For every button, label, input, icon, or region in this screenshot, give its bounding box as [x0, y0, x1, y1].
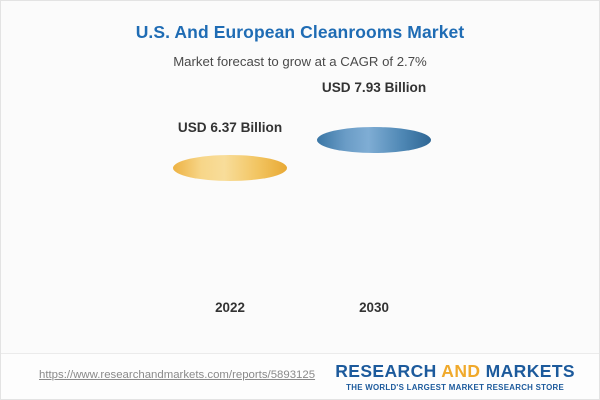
cylinder-top-cap	[173, 155, 287, 181]
cylinder-body-base	[317, 175, 431, 302]
logo-wordmark: RESEARCH AND MARKETS	[335, 361, 575, 382]
chart-plot-area: USD 6.37 Billion 2022 USD 7.93 Billion	[1, 81, 600, 343]
chart-footer: https://www.researchandmarkets.com/repor…	[1, 354, 599, 400]
chart-header: U.S. And European Cleanrooms Market Mark…	[1, 1, 599, 69]
cylinder-2030[interactable]	[317, 127, 431, 315]
x-axis-label-2030: 2030	[359, 300, 389, 315]
chart-card: U.S. And European Cleanrooms Market Mark…	[0, 0, 600, 400]
logo-word-and: AND	[441, 361, 480, 381]
research-and-markets-logo[interactable]: RESEARCH AND MARKETS THE WORLD'S LARGEST…	[335, 361, 575, 392]
report-url-link[interactable]: https://www.researchandmarkets.com/repor…	[39, 369, 315, 381]
logo-word-markets: MARKETS	[486, 361, 575, 381]
x-axis-label-2022: 2022	[215, 300, 245, 315]
logo-tagline: THE WORLD'S LARGEST MARKET RESEARCH STOR…	[335, 383, 575, 392]
cylinder-top-cap	[317, 127, 431, 153]
cylinder-body-base	[173, 168, 287, 302]
bar-value-label: USD 6.37 Billion	[178, 120, 282, 135]
page-title: U.S. And European Cleanrooms Market	[1, 1, 599, 43]
bar-value-label: USD 7.93 Billion	[322, 80, 426, 95]
cylinder-2022[interactable]	[173, 155, 287, 315]
logo-word-research: RESEARCH	[335, 361, 436, 381]
chart-subtitle: Market forecast to grow at a CAGR of 2.7…	[1, 43, 599, 69]
